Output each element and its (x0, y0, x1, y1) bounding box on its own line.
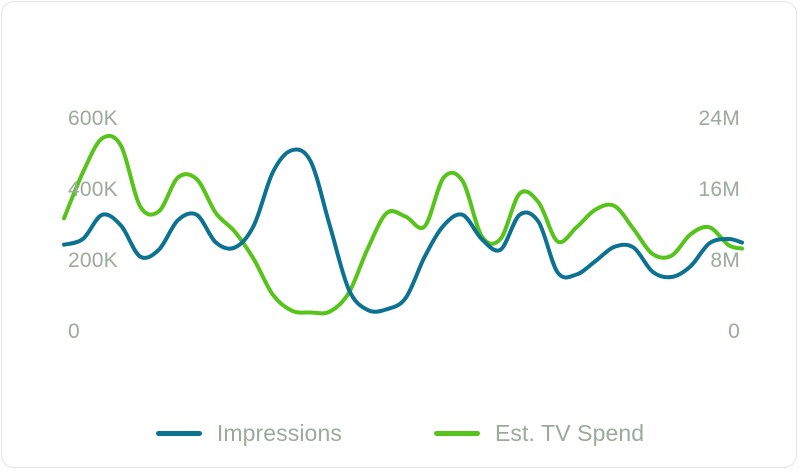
left-axis-tick-400k: 400K (68, 178, 118, 202)
line-impressions (64, 150, 742, 312)
dual-axis-line-chart (2, 2, 797, 397)
chart-plot-area: 600K 400K 200K 0 24M 16M 8M 0 (2, 2, 797, 397)
chart-card: 600K 400K 200K 0 24M 16M 8M 0 Impression… (1, 1, 797, 468)
right-axis-tick-16m: 16M (699, 178, 740, 202)
chart-legend: Impressions Est. TV Spend (2, 398, 797, 468)
series-est-tv-spend (64, 136, 742, 313)
right-axis-tick-8m: 8M (710, 249, 740, 273)
legend-item-impressions[interactable]: Impressions (156, 420, 342, 447)
legend-label-impressions: Impressions (217, 420, 342, 447)
line-est-tv-spend (64, 136, 742, 313)
left-axis-tick-600k: 600K (68, 107, 118, 131)
legend-label-est-tv-spend: Est. TV Spend (495, 420, 644, 447)
right-axis-tick-0: 0 (728, 320, 740, 344)
legend-item-est-tv-spend[interactable]: Est. TV Spend (434, 420, 644, 447)
legend-swatch-impressions (156, 431, 202, 436)
left-axis-tick-200k: 200K (68, 249, 118, 273)
legend-swatch-est-tv-spend (434, 431, 480, 436)
series-impressions (64, 150, 742, 312)
left-axis-tick-0: 0 (68, 320, 80, 344)
right-axis-tick-24m: 24M (699, 107, 740, 131)
